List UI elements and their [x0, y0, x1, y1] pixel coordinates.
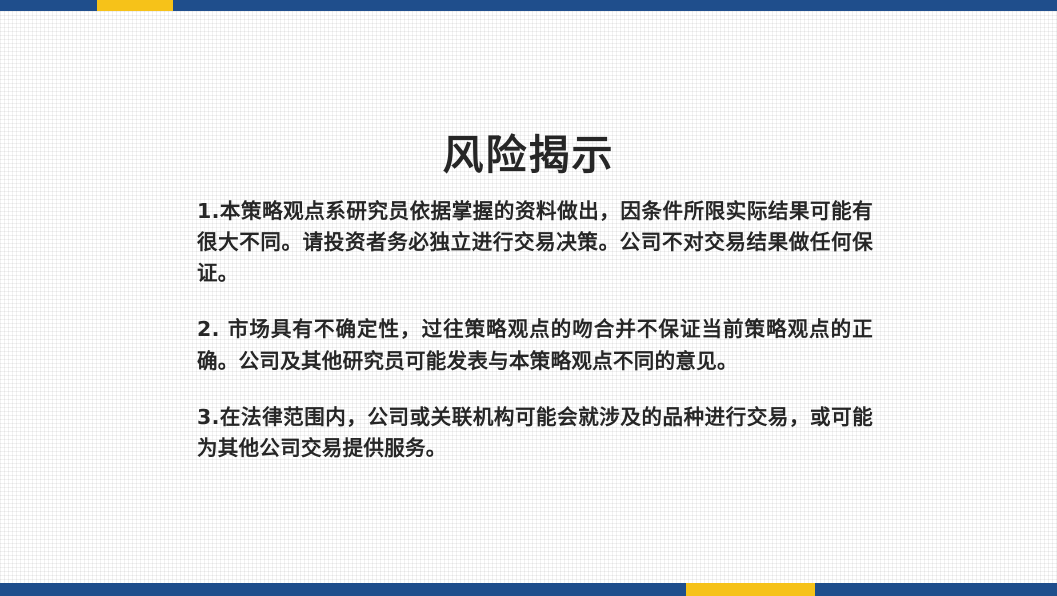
bottom-bar-segment-yellow-accent [686, 583, 815, 596]
risk-paragraph-3: 3.在法律范围内，公司或关联机构可能会就涉及的品种进行交易，或可能为其他公司交易… [197, 402, 873, 464]
risk-disclosure-body: 1.本策略观点系研究员依据掌握的资料做出，因条件所限实际结果可能有很大不同。请投… [197, 196, 873, 464]
page-title: 风险揭示 [0, 121, 1057, 181]
bottom-bar-segment-blue-left [0, 583, 686, 596]
slide-canvas: 风险揭示 1.本策略观点系研究员依据掌握的资料做出，因条件所限实际结果可能有很大… [0, 0, 1057, 596]
top-bar-segment-blue-left [0, 0, 97, 11]
risk-paragraph-1: 1.本策略观点系研究员依据掌握的资料做出，因条件所限实际结果可能有很大不同。请投… [197, 196, 873, 289]
bottom-bar-segment-blue-right [815, 583, 1057, 596]
risk-paragraph-2: 2. 市场具有不确定性，过往策略观点的吻合并不保证当前策略观点的正确。公司及其他… [197, 314, 873, 376]
top-decoration-bar [0, 0, 1057, 11]
bottom-decoration-bar [0, 583, 1057, 596]
slide-content: 风险揭示 1.本策略观点系研究员依据掌握的资料做出，因条件所限实际结果可能有很大… [0, 11, 1057, 583]
top-bar-segment-blue-right [173, 0, 1057, 11]
top-bar-segment-yellow-accent [97, 0, 173, 11]
